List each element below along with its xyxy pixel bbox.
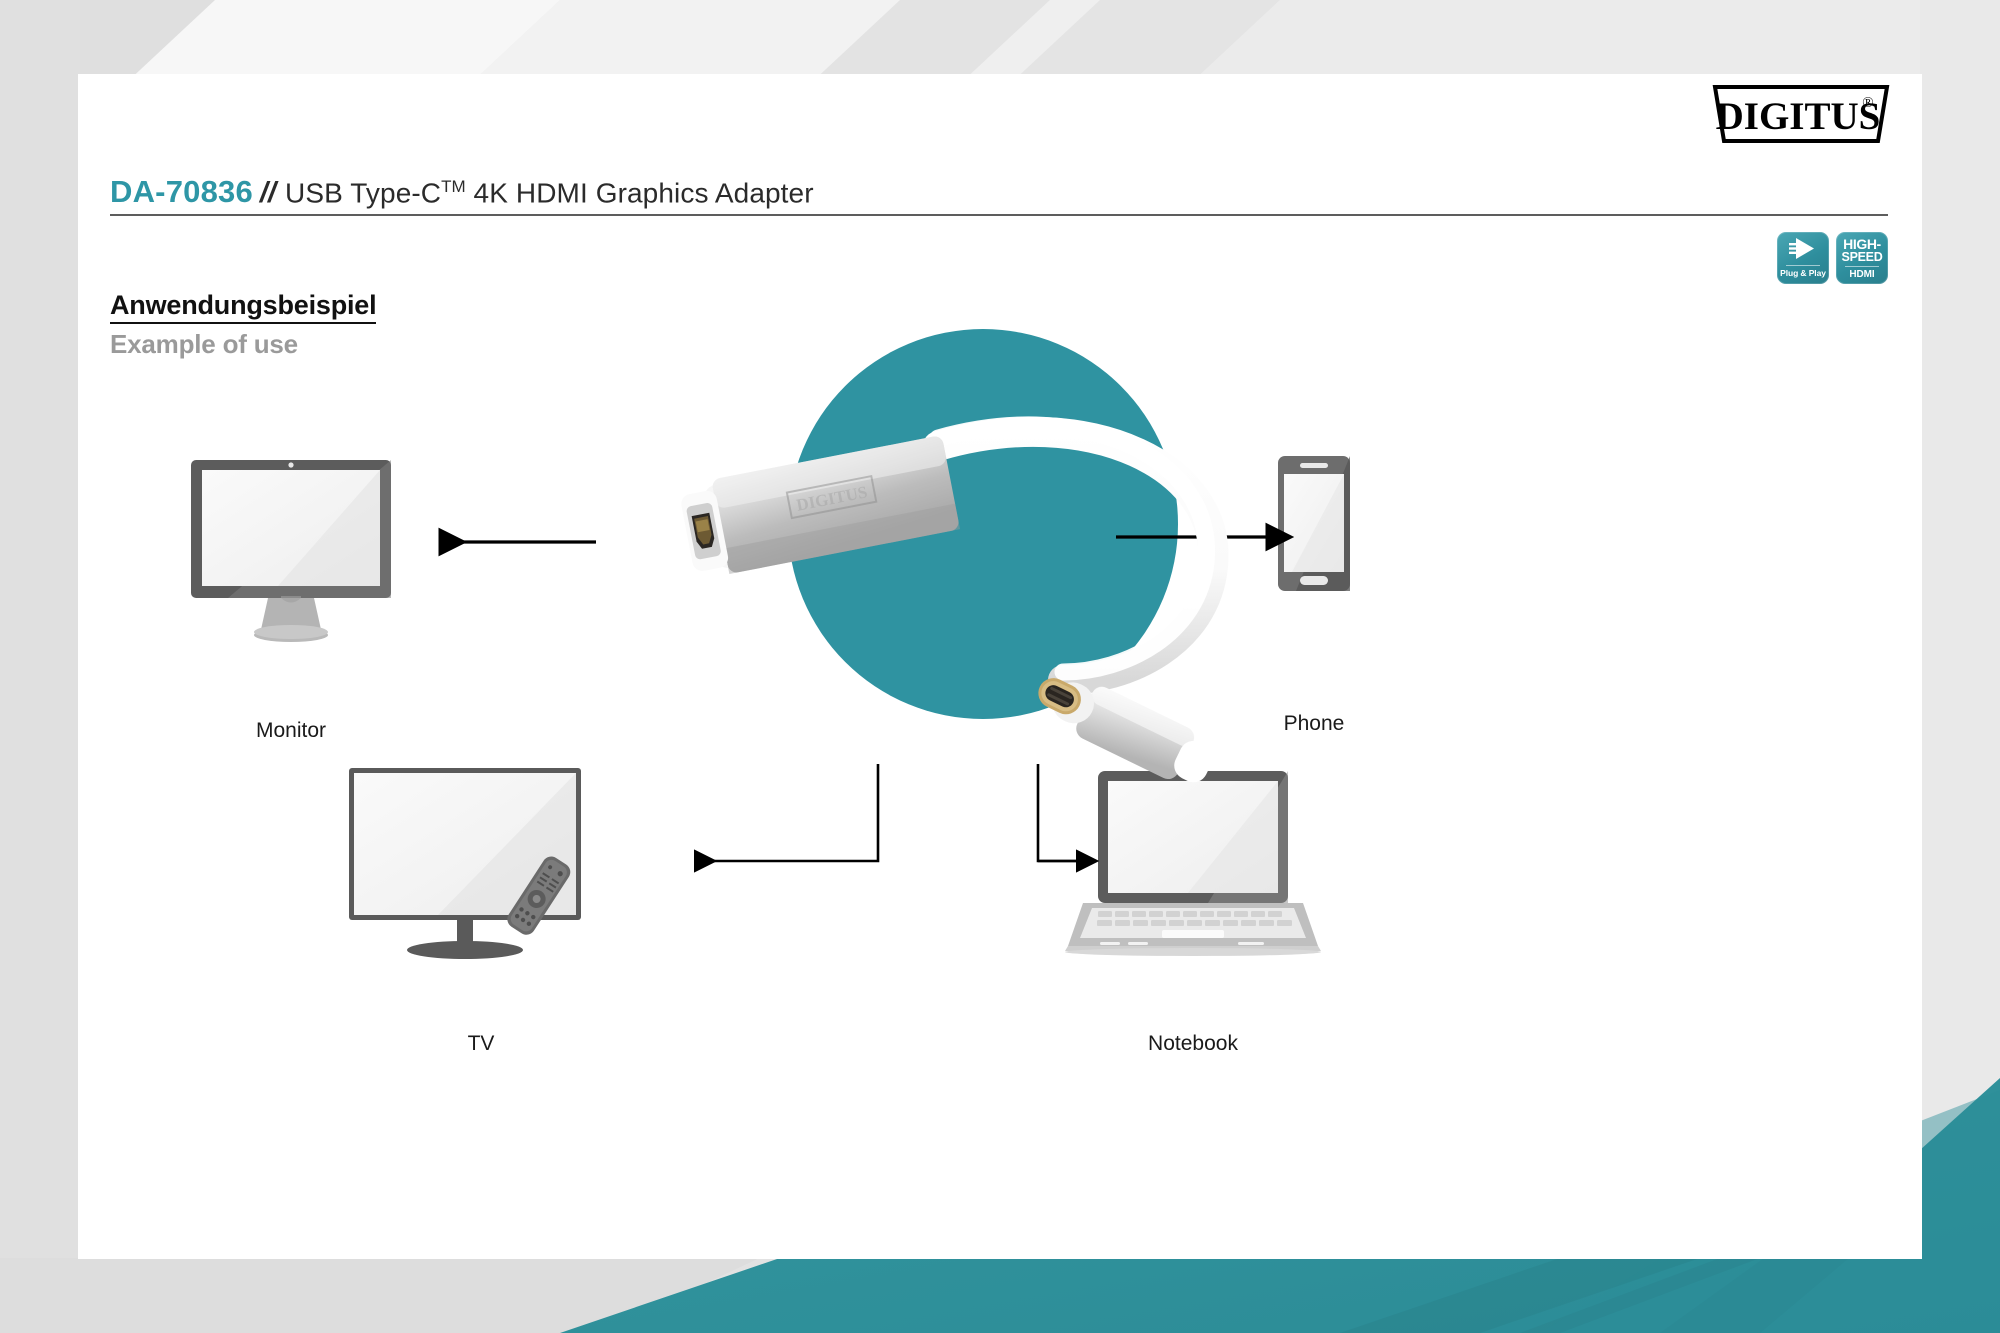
content-card: DIGITUS ® DA-70836//USB Type-CTM 4K HDMI… [78,74,1922,1259]
play-arrow-icon [1783,235,1823,262]
section-heading: Anwendungsbeispiel Example of use [110,290,376,360]
device-tv [349,768,581,959]
tv-remote-control [504,853,574,938]
device-label-notebook: Notebook [1098,1032,1288,1056]
product-name-base: USB Type-C [285,177,441,208]
device-notebook [1065,771,1321,956]
badge-line-2: SPEED [1842,251,1883,263]
badge-high-speed-hdmi: HIGH- SPEED HDMI [1836,232,1888,284]
connection-arrows [441,537,1268,861]
device-label-phone: Phone [1244,712,1384,736]
trademark-mark: TM [441,177,466,196]
badge-rule [1845,266,1879,267]
device-label-tv: TV [365,1032,597,1056]
registered-mark-icon: ® [1862,95,1873,111]
product-sku: DA-70836 [110,174,253,210]
usage-diagram: DIGITUS [78,74,1922,1259]
product-name: USB Type-CTM 4K HDMI Graphics Adapter [285,177,814,209]
arrow-to-notebook-stem [1038,764,1078,861]
section-heading-de: Anwendungsbeispiel [110,290,376,324]
arrow-to-tv [696,764,878,861]
product-backdrop-circle [788,329,1178,719]
product-adapter: DIGITUS [678,425,1221,794]
badge-caption: HDMI [1849,269,1874,280]
badge-plug-and-play: Plug & Play [1777,232,1829,284]
adapter-emboss-label: DIGITUS [795,482,869,514]
device-label-monitor: Monitor [191,719,391,743]
product-name-rest: 4K HDMI Graphics Adapter [466,177,814,208]
section-heading-en: Example of use [110,329,376,360]
feature-badges: Plug & Play HIGH- SPEED HDMI [1777,232,1888,284]
digitus-logo: DIGITUS ® [1712,84,1890,146]
badge-rule [1786,265,1820,266]
title-separator: // [260,177,276,210]
page-title: DA-70836//USB Type-CTM 4K HDMI Graphics … [110,174,1888,216]
logo-wordmark: DIGITUS [1716,95,1881,138]
badge-caption: Plug & Play [1780,269,1826,278]
device-phone [1278,456,1350,591]
device-monitor [191,460,391,642]
